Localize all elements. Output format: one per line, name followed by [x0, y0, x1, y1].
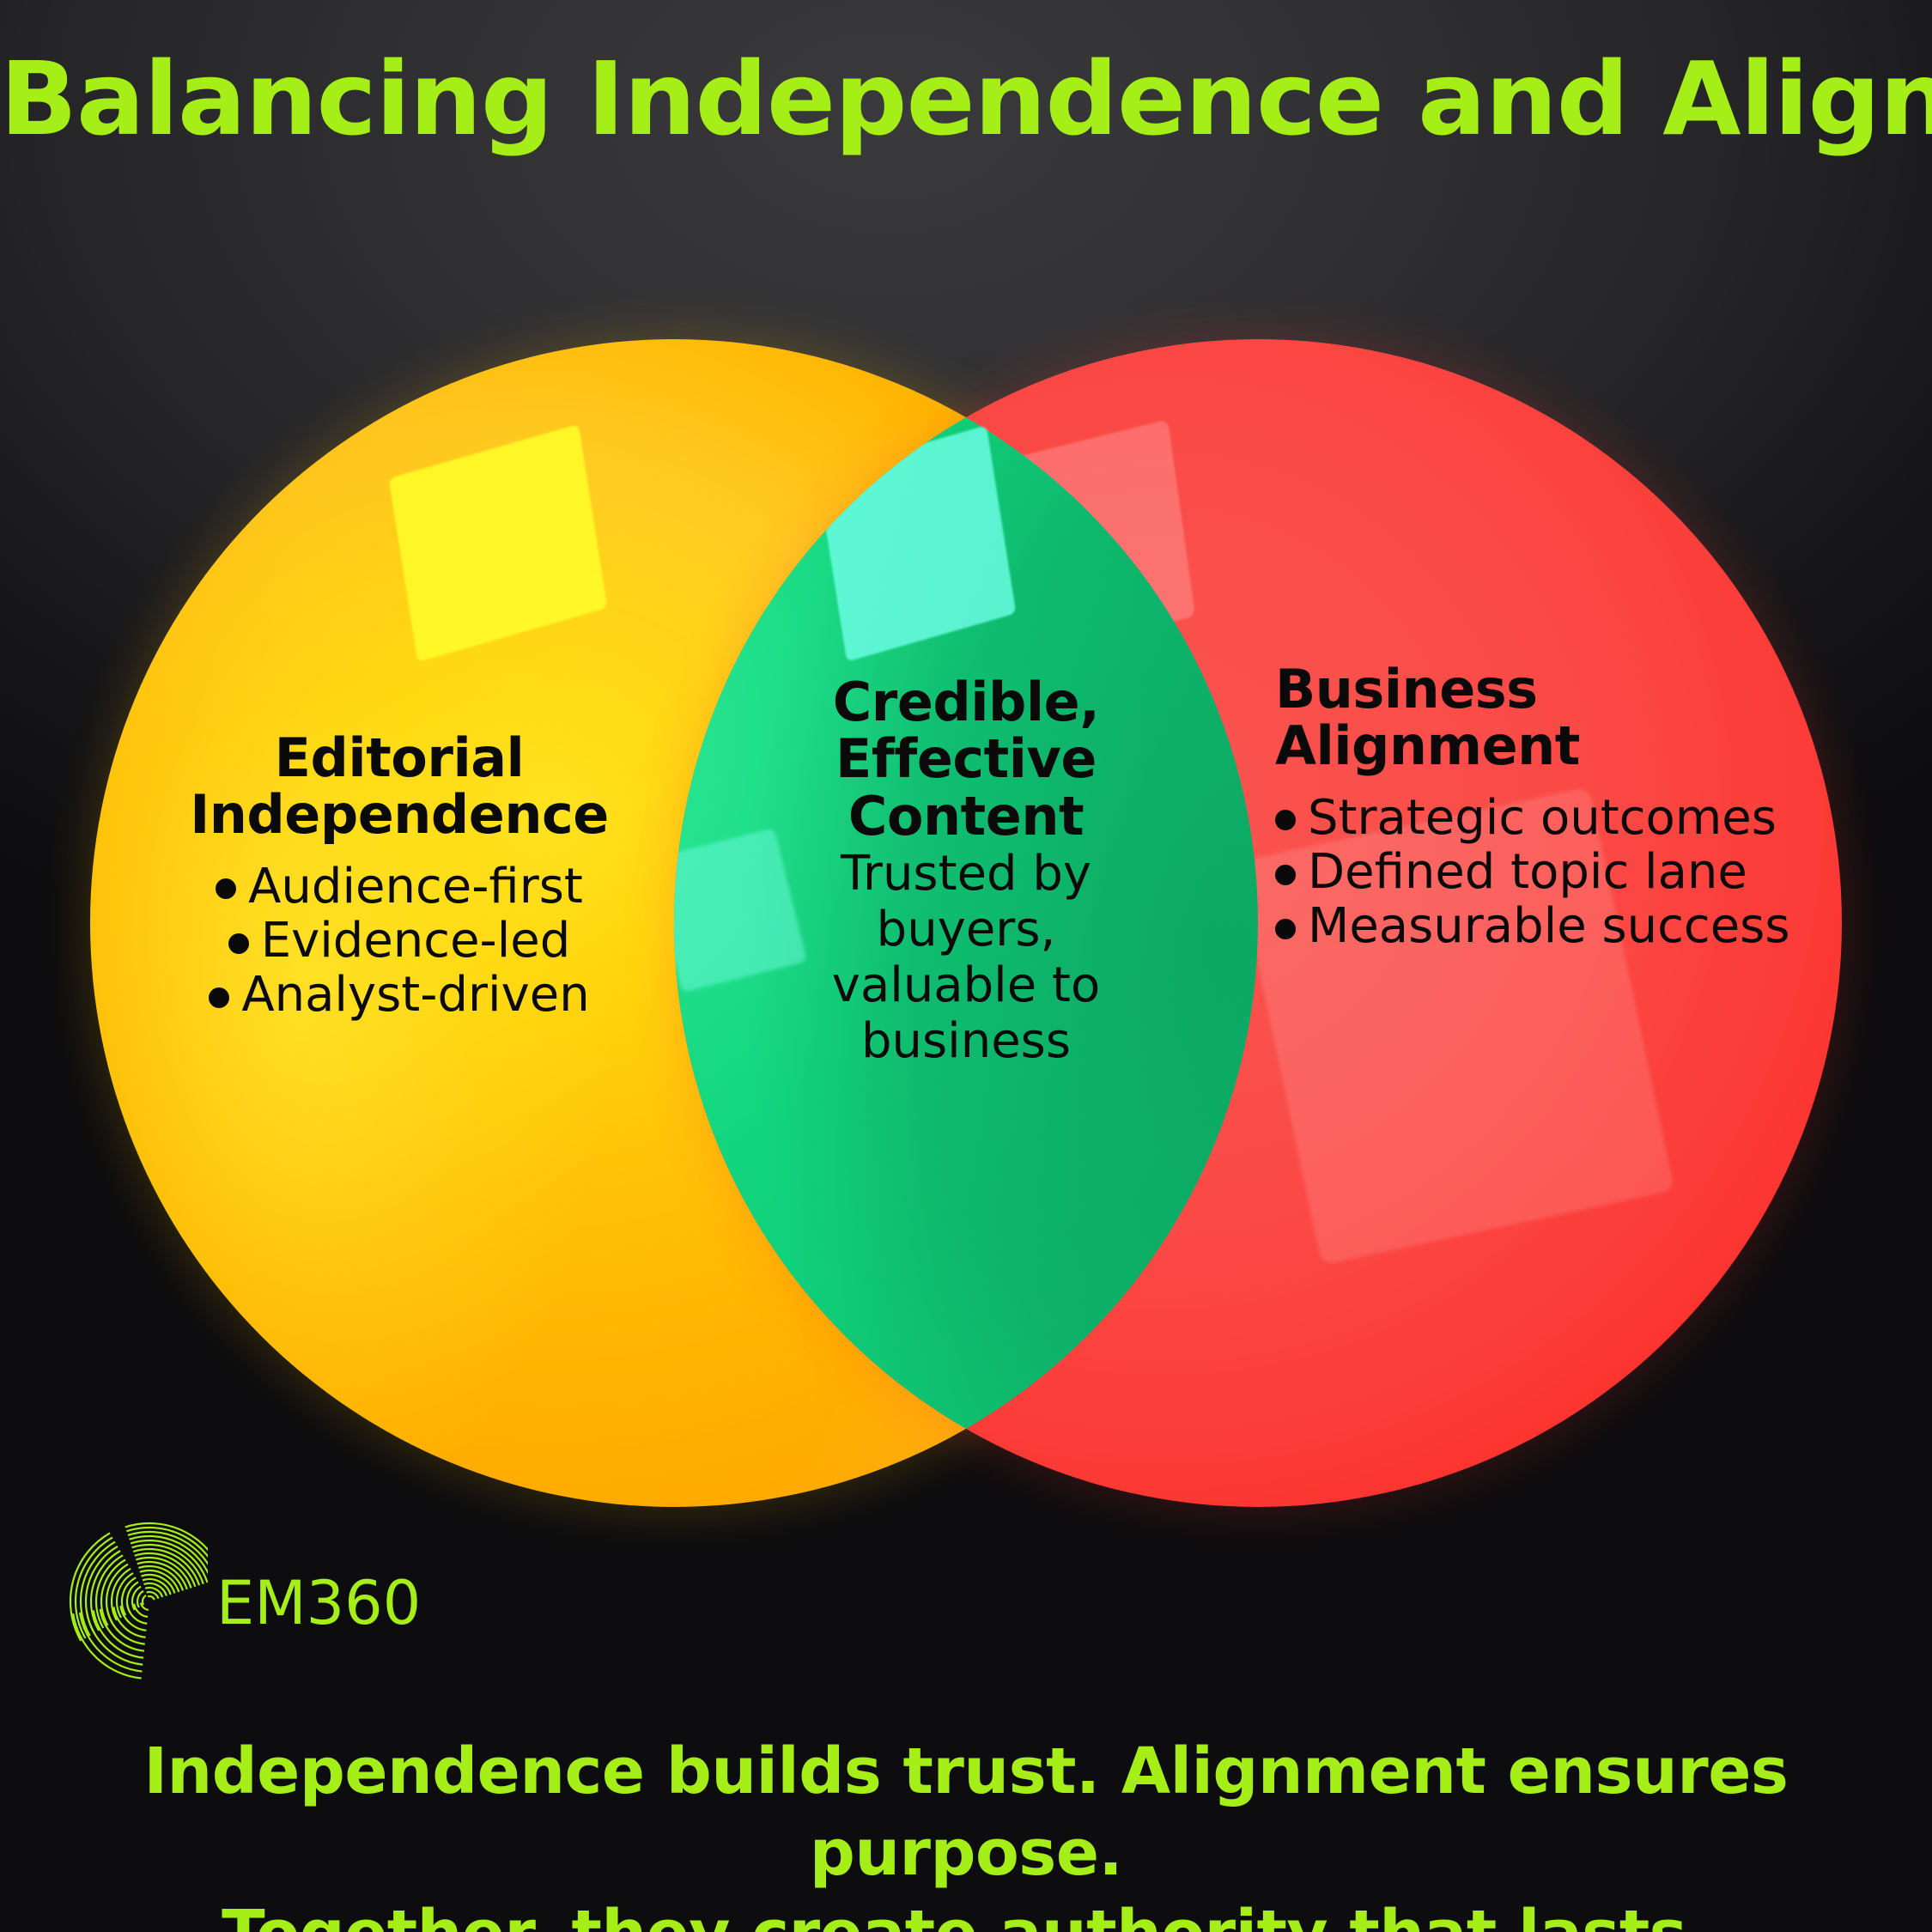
- right-bullet-label: Strategic outcomes: [1308, 790, 1777, 846]
- left-heading-line1: Editorial: [137, 730, 661, 787]
- overlap-content: Credible, Effective Content Trusted by b…: [820, 674, 1112, 1070]
- right-circle-content: Business Alignment Strategic outcomes De…: [1275, 661, 1790, 953]
- left-bullet-label: Audience-first: [248, 859, 583, 914]
- logo-wordmark: EM360: [216, 1573, 421, 1633]
- brand-logo: EM360: [53, 1513, 414, 1693]
- center-heading-line1: Credible,: [820, 674, 1112, 731]
- list-item: Defined topic lane: [1275, 845, 1790, 899]
- bullet-dot-icon: [216, 878, 236, 899]
- venn-diagram: Editorial Independence Audience-first Ev…: [0, 283, 1932, 1511]
- em360-logo-icon: [53, 1520, 208, 1687]
- left-bullet-list: Audience-first Evidence-led Analyst-driv…: [137, 860, 661, 1023]
- caption-line-1: Independence builds trust. Alignment ens…: [0, 1731, 1932, 1893]
- page-title: Balancing Independence and Alignment: [0, 45, 1932, 154]
- center-heading-line3: Content: [820, 788, 1112, 845]
- list-item: Analyst-driven: [137, 968, 661, 1022]
- right-heading-line2: Alignment: [1275, 718, 1790, 775]
- list-item: Measurable success: [1275, 899, 1790, 953]
- bullet-dot-icon: [209, 987, 229, 1008]
- bullet-dot-icon: [1275, 919, 1296, 939]
- bullet-dot-icon: [228, 933, 249, 954]
- left-bullet-label: Evidence-led: [261, 913, 571, 969]
- right-heading-line1: Business: [1275, 661, 1790, 718]
- center-heading-line2: Effective: [820, 731, 1112, 787]
- list-item: Strategic outcomes: [1275, 791, 1790, 845]
- left-bullet-label: Analyst-driven: [241, 967, 589, 1023]
- right-heading: Business Alignment: [1275, 661, 1790, 775]
- list-item: Audience-first: [137, 860, 661, 914]
- left-heading: Editorial Independence: [137, 730, 661, 844]
- left-heading-line2: Independence: [137, 787, 661, 843]
- right-bullet-list: Strategic outcomes Defined topic lane Me…: [1275, 791, 1790, 954]
- infographic-canvas: Balancing Independence and Alignment: [0, 0, 1932, 1932]
- bullet-dot-icon: [1275, 810, 1296, 830]
- bullet-dot-icon: [1275, 865, 1296, 885]
- right-bullet-label: Defined topic lane: [1308, 844, 1747, 900]
- footer-caption: Independence builds trust. Alignment ens…: [0, 1731, 1932, 1932]
- list-item: Evidence-led: [137, 914, 661, 968]
- right-bullet-label: Measurable success: [1308, 898, 1790, 954]
- caption-line-2: Together, they create authority that las…: [0, 1893, 1932, 1932]
- center-heading: Credible, Effective Content: [820, 674, 1112, 845]
- center-body-text: Trusted by buyers, valuable to business: [820, 847, 1112, 1070]
- left-circle-content: Editorial Independence Audience-first Ev…: [137, 730, 661, 1022]
